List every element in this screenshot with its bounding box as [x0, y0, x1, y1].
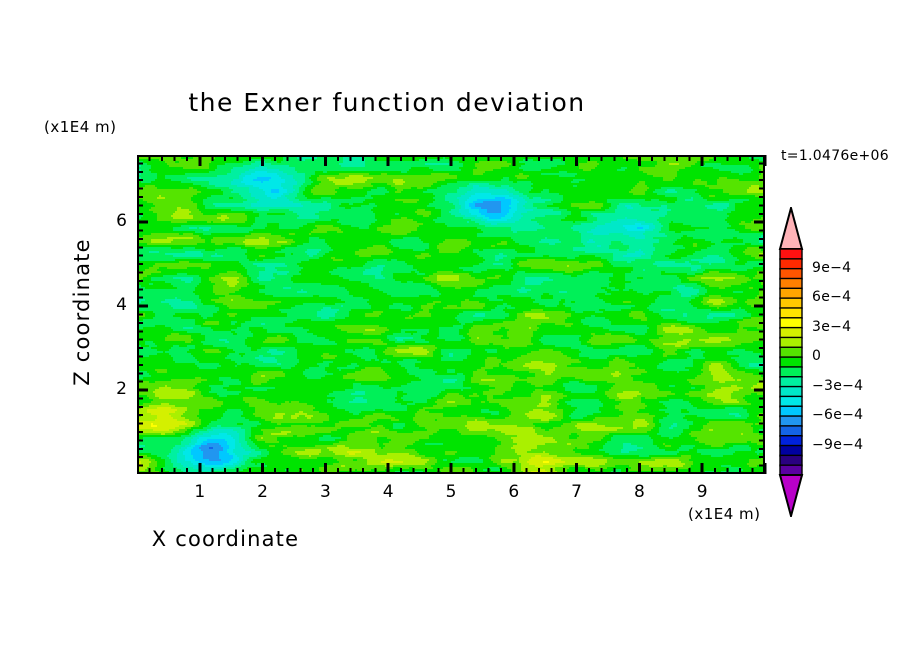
- y-axis-unit-label: (x1E4 m): [44, 118, 117, 136]
- x-tick-label: 7: [557, 482, 597, 502]
- x-axis-title: X coordinate: [0, 527, 904, 551]
- y-tick-label: 6: [91, 211, 127, 231]
- figure-canvas: the Exner function deviation (x1E4 m) t=…: [0, 0, 904, 654]
- y-tick-label: 4: [91, 295, 127, 315]
- y-tick-label: 2: [91, 379, 127, 399]
- colorbar-swatches: [775, 207, 815, 517]
- colorbar-tick-labels: 9e−46e−43e−40−3e−4−6e−4−9e−4: [812, 207, 902, 517]
- contour-field: [137, 155, 765, 474]
- chart-title-text: the Exner function deviation: [188, 88, 585, 117]
- x-tick-label: 8: [619, 482, 659, 502]
- colorbar-tick-label: 9e−4: [812, 260, 851, 276]
- colorbar: [775, 207, 815, 517]
- colorbar-tick-label: 0: [812, 348, 821, 364]
- y-axis-title: Z coordinate: [70, 192, 94, 432]
- x-tick-label: 3: [305, 482, 345, 502]
- contour-plot-area: [137, 155, 765, 474]
- colorbar-tick-label: −9e−4: [812, 437, 863, 453]
- x-tick-label: 1: [180, 482, 220, 502]
- chart-title: the Exner function deviation: [0, 88, 904, 117]
- x-axis-title-text: X coordinate: [152, 527, 299, 551]
- x-tick-label: 5: [431, 482, 471, 502]
- colorbar-tick-label: −6e−4: [812, 407, 863, 423]
- x-tick-label: 9: [682, 482, 722, 502]
- x-tick-label: 2: [243, 482, 283, 502]
- timestamp-label: t=1.0476e+06: [781, 148, 889, 164]
- x-tick-label: 4: [368, 482, 408, 502]
- x-axis-unit-label: (x1E4 m): [688, 505, 761, 523]
- colorbar-tick-label: −3e−4: [812, 378, 863, 394]
- colorbar-tick-label: 6e−4: [812, 289, 851, 305]
- x-tick-label: 6: [494, 482, 534, 502]
- colorbar-tick-label: 3e−4: [812, 319, 851, 335]
